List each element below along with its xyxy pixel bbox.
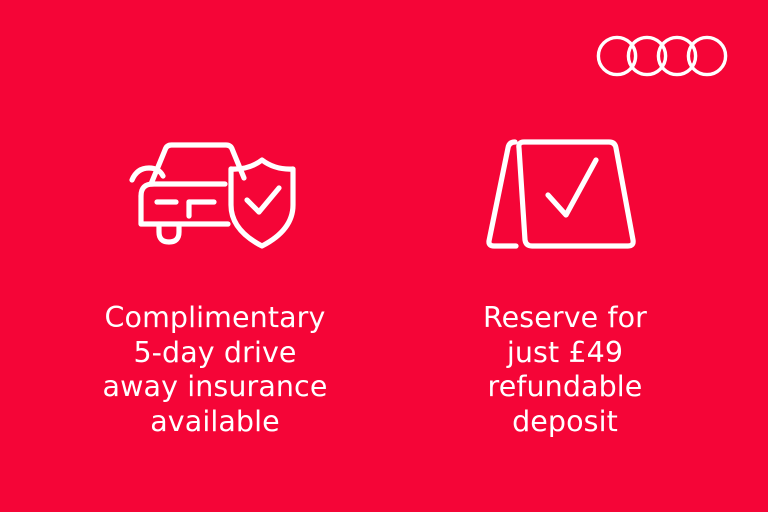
benefit-card-insurance: Complimentary 5-day drive away insurance… <box>50 130 380 439</box>
audi-four-rings-logo <box>596 33 732 79</box>
car-shield-icon <box>129 136 301 250</box>
benefit-icon-wrapper-deposit <box>486 130 644 255</box>
benefit-text-insurance: Complimentary 5-day drive away insurance… <box>50 301 380 439</box>
tent-card-check-icon <box>486 133 644 253</box>
benefit-icon-wrapper-insurance <box>129 130 301 255</box>
benefit-text-deposit: Reserve for just £49 refundable deposit <box>415 301 715 439</box>
promo-banner: Complimentary 5-day drive away insurance… <box>0 0 768 512</box>
benefit-card-deposit: Reserve for just £49 refundable deposit <box>400 130 730 439</box>
